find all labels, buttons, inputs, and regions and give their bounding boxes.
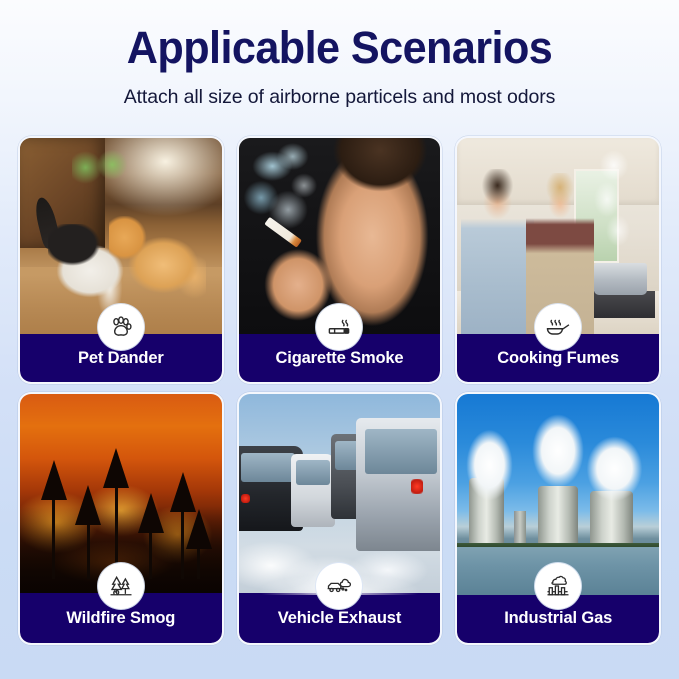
factory-smokestack-icon xyxy=(535,563,581,609)
card-label-text: Industrial Gas xyxy=(504,609,612,628)
burning-tree xyxy=(197,519,200,579)
cigarette-icon xyxy=(316,304,362,350)
man xyxy=(461,169,534,334)
scenario-card-pet-dander[interactable]: Pet Dander xyxy=(18,136,224,384)
scenario-card-cigarette-smoke[interactable]: Cigarette Smoke xyxy=(237,136,443,384)
burning-tree xyxy=(181,482,184,578)
burning-tree xyxy=(149,503,152,579)
car-window xyxy=(365,429,437,474)
smokestack xyxy=(514,511,526,547)
car-window xyxy=(296,460,331,485)
burning-tree xyxy=(87,495,90,579)
paw-print-icon xyxy=(98,304,144,350)
card-label-text: Vehicle Exhaust xyxy=(278,609,401,628)
burning-trees-icon xyxy=(98,563,144,609)
scenario-card-industrial-gas[interactable]: Industrial Gas xyxy=(455,392,661,645)
card-label-text: Cooking Fumes xyxy=(497,349,619,368)
cooling-tower xyxy=(538,486,578,546)
steam xyxy=(578,146,647,268)
dog xyxy=(109,216,206,314)
burning-tree xyxy=(52,470,55,579)
steam-plume xyxy=(578,422,651,506)
cooking-pan-steam-icon xyxy=(535,304,581,350)
car-exhaust-icon xyxy=(316,563,362,609)
page-subtitle: Attach all size of airborne particels an… xyxy=(0,86,679,109)
scenario-card-cooking-fumes[interactable]: Cooking Fumes xyxy=(455,136,661,384)
card-label-text: Cigarette Smoke xyxy=(276,349,404,368)
scenario-card-vehicle-exhaust[interactable]: Vehicle Exhaust xyxy=(237,392,443,645)
scenario-card-wildfire-smog[interactable]: Wildfire Smog xyxy=(18,392,224,645)
page-title: Applicable Scenarios xyxy=(14,24,666,73)
burning-tree xyxy=(115,458,118,579)
cooking-pot xyxy=(594,263,646,294)
car-window xyxy=(241,453,294,482)
houseplants xyxy=(72,146,132,185)
page-header: Applicable Scenarios Attach all size of … xyxy=(0,0,679,109)
steam-plume xyxy=(459,414,520,506)
card-label-text: Pet Dander xyxy=(78,349,164,368)
card-label-text: Wildfire Smog xyxy=(66,609,175,628)
scenario-card-grid: Pet Dander Cigarette Smoke xyxy=(18,136,661,645)
